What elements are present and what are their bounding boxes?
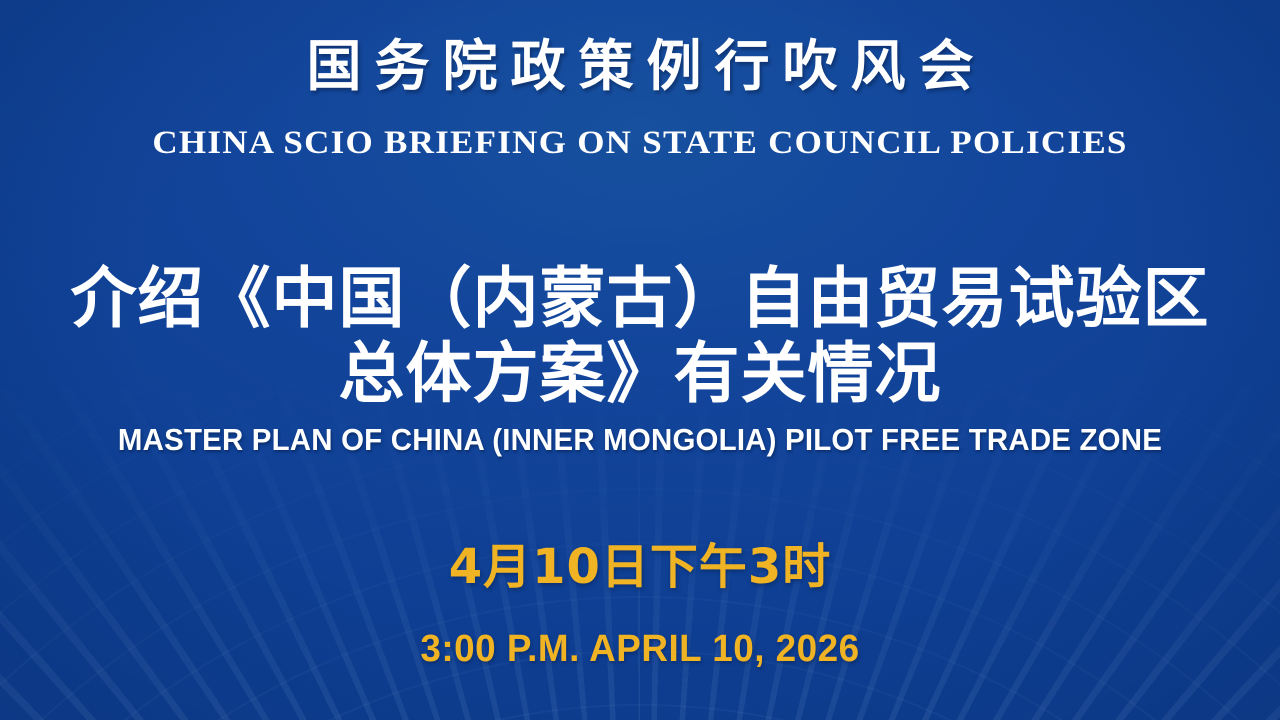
slide-content: 国务院政策例行吹风会 CHINA SCIO BRIEFING ON STATE … xyxy=(0,0,1280,720)
briefing-slide: 国务院政策例行吹风会 CHINA SCIO BRIEFING ON STATE … xyxy=(0,0,1280,720)
schedule-date-english: 3:00 P.M. APRIL 10, 2026 xyxy=(19,630,1261,668)
header-title-english: CHINA SCIO BRIEFING ON STATE COUNCIL POL… xyxy=(0,127,1280,160)
schedule-date-chinese: 4月10日下午3时 xyxy=(0,543,1280,591)
main-title-chinese: 介绍《中国（内蒙古）自由贸易试验区 总体方案》有关情况 xyxy=(0,262,1280,411)
header-title-chinese: 国务院政策例行吹风会 xyxy=(0,38,1280,93)
main-title-english: MASTER PLAN OF CHINA (INNER MONGOLIA) PI… xyxy=(32,424,1248,455)
